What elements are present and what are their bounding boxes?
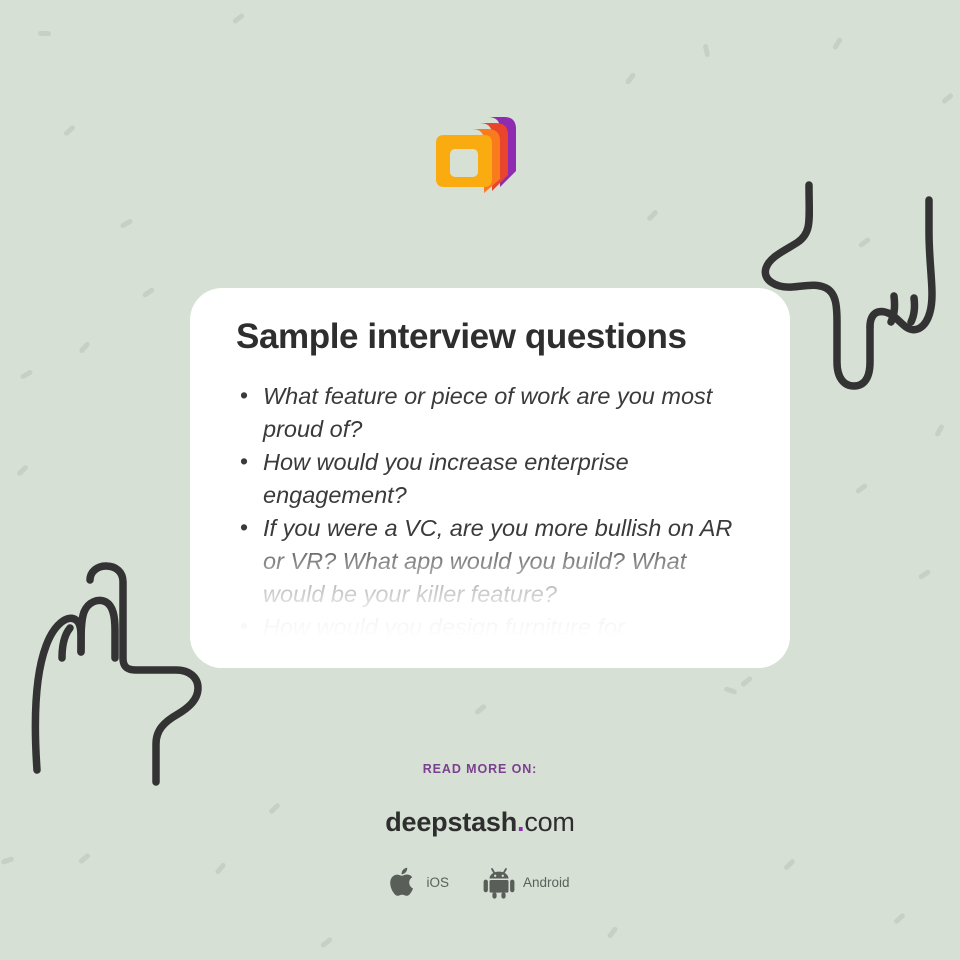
app-store-badges: iOS And <box>0 865 960 899</box>
wordmark-tld: com <box>524 807 574 837</box>
confetti-speck <box>63 124 76 136</box>
confetti-speck <box>232 13 245 25</box>
deepstash-logo <box>430 103 522 195</box>
android-label: Android <box>523 875 570 890</box>
confetti-speck <box>740 675 753 687</box>
deepstash-wordmark[interactable]: deepstash.com <box>0 807 960 838</box>
list-item: How would you design furniture for <box>236 611 748 644</box>
confetti-speck <box>20 369 34 380</box>
wordmark-brand: deepstash <box>385 807 517 837</box>
confetti-speck <box>78 341 90 354</box>
confetti-speck <box>941 92 954 104</box>
list-item: If you were a VC, are you more bullish o… <box>236 512 748 611</box>
footer: READ MORE ON: deepstash.com iOS <box>0 762 960 899</box>
apple-icon <box>390 865 418 899</box>
confetti-speck <box>832 37 843 51</box>
read-more-label: READ MORE ON: <box>0 762 960 776</box>
list-item: What feature or piece of work are you mo… <box>236 380 748 446</box>
ios-store-badge[interactable]: iOS <box>390 865 449 899</box>
ios-label: iOS <box>426 875 449 890</box>
social-share-card: Sample interview questions What feature … <box>0 0 960 960</box>
list-item: How would you increase enterprise engage… <box>236 446 748 512</box>
confetti-speck <box>858 237 871 249</box>
android-store-badge[interactable]: Android <box>483 865 570 899</box>
confetti-speck <box>934 424 945 438</box>
confetti-speck <box>893 912 906 924</box>
confetti-speck <box>16 464 29 477</box>
interview-question-list: What feature or piece of work are you mo… <box>236 380 748 644</box>
confetti-speck <box>120 218 134 229</box>
confetti-speck <box>38 31 51 36</box>
confetti-speck <box>474 703 487 715</box>
confetti-speck <box>855 483 868 495</box>
android-icon <box>483 865 515 899</box>
confetti-speck <box>625 72 637 85</box>
confetti-speck <box>607 926 619 939</box>
confetti-speck <box>142 287 156 299</box>
content-card: Sample interview questions What feature … <box>190 288 790 668</box>
page-title: Sample interview questions <box>236 316 748 358</box>
confetti-speck <box>320 937 333 949</box>
confetti-speck <box>918 569 932 580</box>
confetti-speck <box>646 209 659 222</box>
confetti-speck <box>703 44 711 58</box>
pointing-up-hand-illustration <box>18 558 218 788</box>
confetti-speck <box>724 686 738 695</box>
